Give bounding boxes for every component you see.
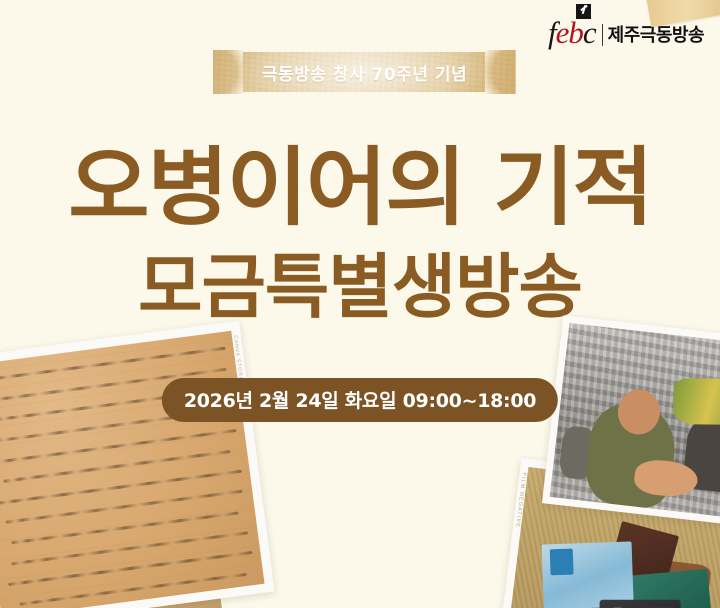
logo-letter-b: b — [568, 15, 583, 50]
basket-radio — [600, 600, 681, 608]
logo-letter-f: f — [548, 15, 556, 50]
logo-divider — [602, 24, 603, 46]
letter-paper — [0, 331, 265, 608]
poster-canvas: febc 제주극동방송 극동방송 창사 70주년 기념 오병이어의 기적 모금특… — [0, 0, 720, 608]
photo-historic-crowd: FILM NEGATIVE — [542, 315, 720, 525]
photo-handwritten-letter: CANVA STORIES CANVA STORIES — [0, 321, 275, 608]
schedule-badge: 2026년 2월 24일 화요일 09:00~18:00 — [162, 378, 558, 422]
historic-shape-3 — [673, 378, 720, 424]
basket-book-blue — [542, 542, 634, 608]
anniversary-banner: 극동방송 창사 70주년 기념 — [213, 50, 516, 94]
banner-label: 극동방송 창사 70주년 기념 — [213, 50, 516, 94]
station-name: 제주극동방송 — [608, 26, 704, 48]
febc-flag-icon — [576, 4, 591, 19]
febc-wordmark: febc — [548, 17, 600, 48]
page-title-line1: 오병이어의 기적 — [0, 146, 720, 231]
historic-image — [550, 323, 720, 518]
logo-letter-e: e — [556, 15, 569, 50]
logo-letter-c: c — [583, 15, 596, 50]
page-title-line2: 모금특별생방송 — [0, 252, 720, 322]
